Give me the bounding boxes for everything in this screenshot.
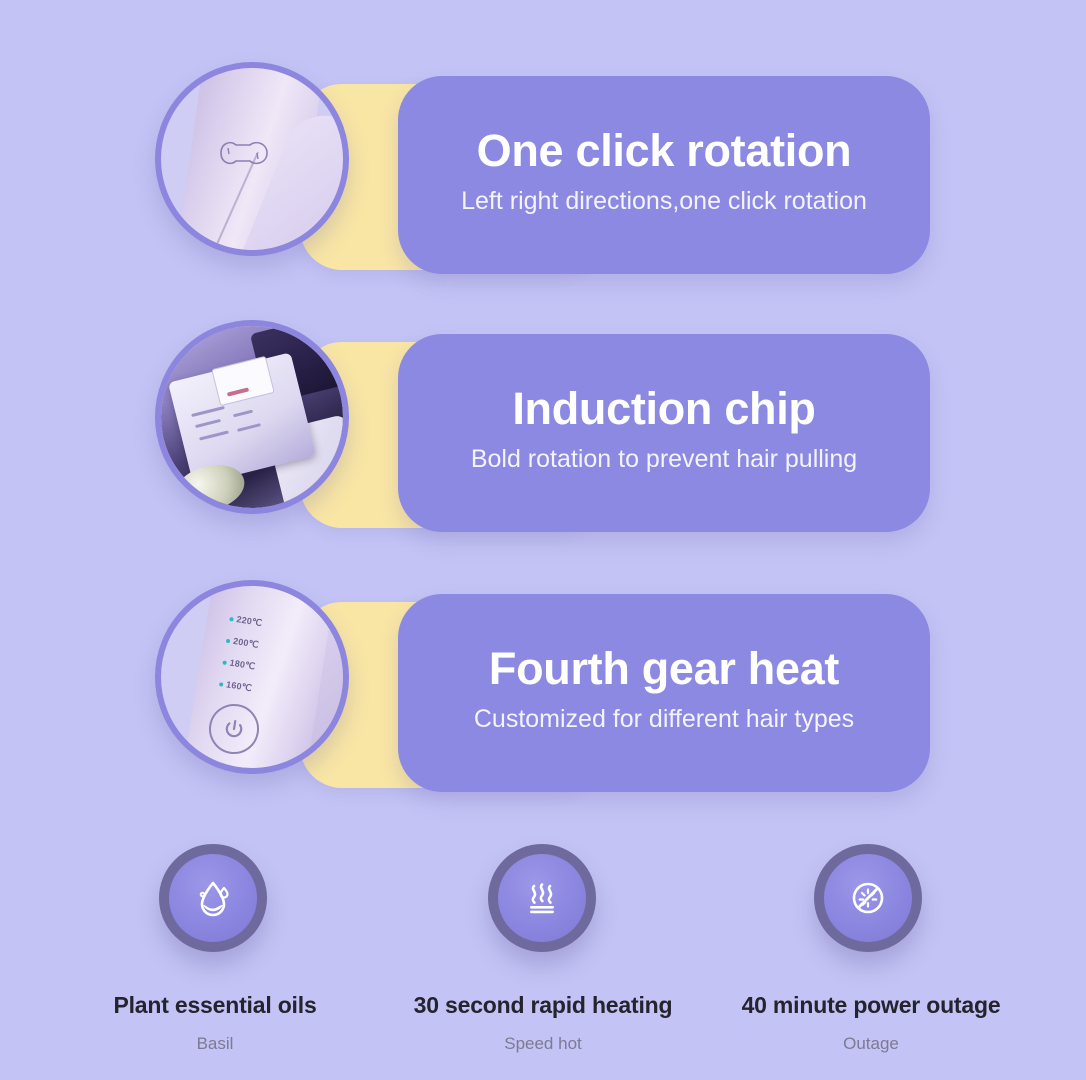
temperature-indicator-dot: [229, 616, 234, 621]
temperature-settings-list: 220℃ 200℃ 180℃ 160℃: [217, 613, 326, 715]
feature-subtitle: Bold rotation to prevent hair pulling: [471, 445, 857, 474]
bottom-feature-sublabel: Speed hot: [378, 1034, 708, 1054]
circuit-board-photo: [161, 326, 343, 508]
temperature-value: 200℃: [232, 636, 259, 651]
feature-title: One click rotation: [477, 126, 852, 176]
temperature-indicator-dot: [222, 660, 227, 665]
feature-subtitle: Customized for different hair types: [474, 705, 854, 734]
power-off-slash-icon-badge: [814, 844, 922, 952]
feature-row-1: One click rotation Left right directions…: [0, 62, 1086, 292]
bottom-feature-item: 30 second rapid heating Speed hot: [378, 836, 708, 1080]
heat-waves-icon-badge: [488, 844, 596, 952]
feature-card-1: One click rotation Left right directions…: [398, 76, 930, 274]
bottom-feature-label: 30 second rapid heating: [378, 992, 708, 1019]
bottom-feature-item: 40 minute power outage Outage: [706, 836, 1036, 1080]
product-infographic: One click rotation Left right directions…: [0, 0, 1086, 1080]
temperature-indicator-dot: [219, 682, 224, 687]
icon-inner-circle: [824, 854, 912, 942]
oil-droplet-icon: [189, 874, 237, 922]
bottom-feature-list: Plant essential oils Basil 30 second rap…: [0, 836, 1086, 1080]
feature-photo-1: [155, 62, 349, 256]
feature-title: Fourth gear heat: [489, 644, 839, 694]
bottom-feature-label: 40 minute power outage: [706, 992, 1036, 1019]
bottom-feature-item: Plant essential oils Basil: [50, 836, 380, 1080]
bottom-feature-sublabel: Outage: [706, 1034, 1036, 1054]
feature-subtitle: Left right directions,one click rotation: [461, 187, 867, 216]
temperature-value: 160℃: [225, 679, 252, 694]
temperature-setting: 180℃: [222, 656, 319, 682]
feature-card-2: Induction chip Bold rotation to prevent …: [398, 334, 930, 532]
temperature-indicator-dot: [226, 638, 231, 643]
feature-photo-3: 220℃ 200℃ 180℃ 160℃: [155, 580, 349, 774]
rocker-switch-icon: [209, 136, 277, 170]
icon-inner-circle: [498, 854, 586, 942]
power-off-slash-icon: [844, 874, 892, 922]
bottom-feature-sublabel: Basil: [50, 1034, 380, 1054]
temperature-value: 180℃: [229, 658, 256, 673]
temperature-setting: 200℃: [225, 635, 322, 661]
bottom-feature-label: Plant essential oils: [50, 992, 380, 1019]
temperature-setting: 160℃: [218, 678, 315, 704]
feature-row-2: Induction chip Bold rotation to prevent …: [0, 320, 1086, 550]
feature-card-3: Fourth gear heat Customized for differen…: [398, 594, 930, 792]
heat-waves-icon: [518, 874, 566, 922]
oil-droplet-icon-badge: [159, 844, 267, 952]
feature-photo-2: [155, 320, 349, 514]
feature-title: Induction chip: [512, 384, 815, 434]
handle-rocker-switch-photo: [161, 68, 343, 250]
temperature-panel-photo: 220℃ 200℃ 180℃ 160℃: [161, 586, 343, 768]
feature-row-3: 220℃ 200℃ 180℃ 160℃: [0, 580, 1086, 810]
icon-inner-circle: [169, 854, 257, 942]
